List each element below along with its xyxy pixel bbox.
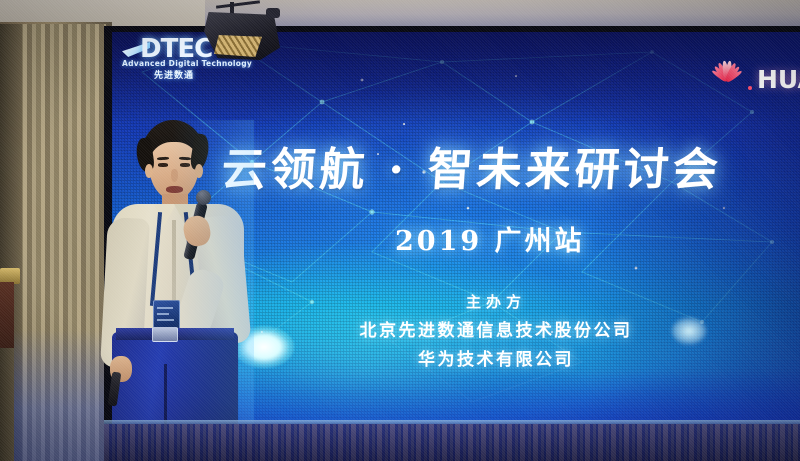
- badge-line: [157, 307, 173, 309]
- speaker-eye-left: [158, 163, 168, 167]
- organizer-block: 主办方 北京先进数通信息技术股份公司 华为技术有限公司: [236, 291, 756, 370]
- speaker-ear-left: [145, 164, 153, 178]
- stage-light-yoke: [216, 0, 260, 8]
- speaker-eye-right: [180, 163, 190, 167]
- organizer-line-2: 华为技术有限公司: [236, 345, 756, 370]
- speaker-nose: [171, 169, 178, 182]
- huawei-dot-icon: [748, 86, 752, 90]
- stage-light-lens: [214, 35, 262, 57]
- huawei-wordmark: HUA: [757, 65, 800, 94]
- speaker-mouth: [166, 186, 183, 193]
- huawei-flower-icon: [706, 62, 748, 96]
- stage-base: [104, 424, 800, 461]
- door-panel: [0, 282, 14, 348]
- badge-line: [157, 313, 169, 315]
- stage-light-fixture: [196, 2, 292, 62]
- event-subtitle: 2019 广州站: [395, 219, 585, 258]
- organizer-line-1: 北京先进数通信息技术股份公司: [236, 316, 756, 341]
- photo-canvas: DTEC Advanced Digital Technology 先进数通 HU…: [0, 0, 800, 461]
- base-blue-cast: [104, 424, 800, 461]
- huawei-logo: HUA: [706, 62, 800, 96]
- badge-line: [157, 319, 174, 321]
- belt-buckle: [152, 327, 178, 342]
- speaker-ear-right: [195, 164, 203, 178]
- curtain-blue-glow: [14, 330, 106, 461]
- speaker: [104, 120, 254, 461]
- event-title: 云领航 · 智未来研讨会: [220, 133, 781, 198]
- stage-light-knob: [266, 8, 280, 18]
- organizer-heading: 主办方: [236, 291, 756, 312]
- dtec-tagline-cn: 先进数通: [154, 68, 194, 81]
